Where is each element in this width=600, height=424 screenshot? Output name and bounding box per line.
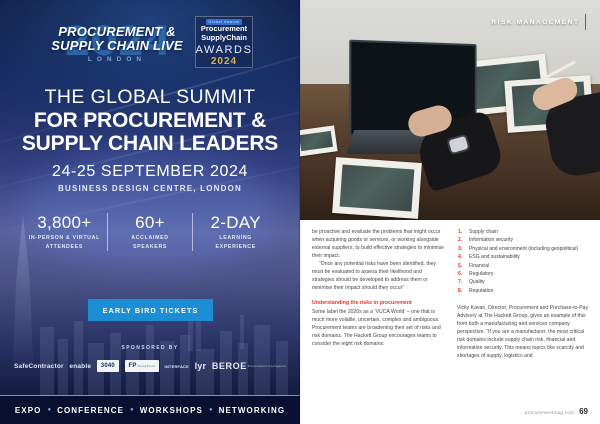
stat-label-line-1: ACCLAIMED [112, 235, 189, 242]
list-item: Quality [457, 278, 590, 286]
list-item: ESG and sustainability [457, 253, 590, 261]
footer-website-url: procurementmag.com [525, 410, 574, 415]
list-item: Physical and environment (including geop… [457, 245, 590, 253]
headline-line-1: THE GLOBAL SUMMIT [0, 86, 300, 109]
list-item: Regulatory [457, 270, 590, 278]
sponsor-logo-enable[interactable]: enable [69, 363, 91, 370]
article-columns: be proactive and evaluate the problems t… [312, 228, 590, 360]
awards-year: 2024 [211, 56, 237, 67]
sponsor-logo-beroe[interactable]: BEROE Procurement Intelligence [212, 361, 286, 371]
article-photo: RISK MANAGEMENT [300, 0, 600, 220]
logo-line-2: SUPPLY CHAIN LIVE [47, 39, 187, 53]
early-bird-tickets-button[interactable]: EARLY BIRD TICKETS [88, 299, 213, 321]
magazine-spread: 2024 PROCUREMENT & SUPPLY CHAIN LIVE LON… [0, 0, 600, 424]
body-paragraph-2: Some label the 2020s as a ‘VUCA World’ –… [312, 308, 445, 348]
kicker-accent-bar [585, 14, 587, 30]
awards-badge: Global Awards Procurement SupplyChain AW… [195, 16, 253, 68]
bullet-separator-icon: ● [130, 407, 134, 413]
logo-line-1: PROCUREMENT & [47, 25, 187, 39]
sponsor-mark: FP [129, 363, 137, 369]
risk-domains-list: Supply chain Information security Physic… [457, 228, 590, 295]
event-venue: BUSINESS DESIGN CENTRE, LONDON [0, 184, 300, 193]
page-number: 69 [579, 407, 588, 416]
logo-location: LONDON [47, 56, 187, 63]
page-gutter-shadow [299, 0, 301, 424]
stat-number: 2-DAY [197, 213, 274, 233]
sponsored-by-label: SPONSORED BY [0, 345, 300, 351]
sponsor-logo-focal-point[interactable]: FP Focal Point [125, 360, 159, 372]
headline-line-2: FOR PROCUREMENT & [0, 109, 300, 132]
headline-line-3: SUPPLY CHAIN LEADERS [0, 132, 300, 155]
awards-title: AWARDS [195, 44, 252, 56]
right-page-article: RISK MANAGEMENT be proactive and evaluat… [300, 0, 600, 424]
stat-label-line-2: SPEAKERS [112, 244, 189, 251]
event-format-bar: EXPO ● CONFERENCE ● WORKSHOPS ● NETWORKI… [0, 395, 300, 424]
body-pullquote-paragraph: “Once any potential risks have been iden… [312, 260, 445, 292]
list-item: Financial [457, 262, 590, 270]
sponsor-logo-lyr[interactable]: lyr [195, 361, 207, 371]
stat-speakers: 60+ ACCLAIMED SPEAKERS [108, 213, 193, 251]
article-column-left: be proactive and evaluate the problems t… [312, 228, 445, 360]
stat-label-line-1: IN-PERSON & VIRTUAL [26, 235, 103, 242]
event-date: 24-25 SEPTEMBER 2024 [0, 162, 300, 182]
list-item: Information security [457, 236, 590, 244]
sponsor-subtext: Procurement Intelligence [248, 364, 286, 368]
stat-label-line-1: LEARNING [197, 235, 274, 242]
section-kicker: RISK MANAGEMENT [491, 14, 586, 30]
list-item: Supply chain [457, 228, 590, 236]
list-item: Reputation [457, 287, 590, 295]
body-paragraph-1: be proactive and evaluate the problems t… [312, 228, 445, 260]
format-workshops: WORKSHOPS [140, 406, 203, 415]
left-page-advertisement: 2024 PROCUREMENT & SUPPLY CHAIN LIVE LON… [0, 0, 300, 424]
page-footer: procurementmag.com 69 [525, 407, 588, 416]
sponsor-logo-row: SafeContractor enable 3040 FP Focal Poin… [14, 360, 286, 372]
article-subheading: Understanding the risks in procurement [312, 299, 445, 307]
procurement-supply-chain-live-logo: 2024 PROCUREMENT & SUPPLY CHAIN LIVE LON… [47, 14, 187, 70]
stat-duration: 2-DAY LEARNING EXPERIENCE [193, 213, 278, 251]
stat-number: 60+ [112, 213, 189, 233]
photo-printout-3 [332, 157, 422, 219]
sponsor-logo-safecontractor[interactable]: SafeContractor [14, 363, 64, 370]
sponsor-logo-3040[interactable]: 3040 [97, 360, 119, 372]
stat-attendees: 3,800+ IN-PERSON & VIRTUAL ATTENDEES [22, 213, 107, 251]
format-conference: CONFERENCE [57, 406, 124, 415]
stat-number: 3,800+ [26, 213, 103, 233]
format-expo: EXPO [15, 406, 42, 415]
event-date-block: 24-25 SEPTEMBER 2024 BUSINESS DESIGN CEN… [0, 162, 300, 193]
sponsor-logo-interface[interactable]: INTERFACE [165, 364, 189, 369]
event-stats: 3,800+ IN-PERSON & VIRTUAL ATTENDEES 60+… [22, 213, 278, 251]
awards-brand-line-2: SupplyChain [201, 34, 247, 43]
sponsor-subtext: Focal Point [138, 364, 155, 368]
cta-label: EARLY BIRD TICKETS [103, 306, 199, 315]
sponsor-mark: BEROE [212, 361, 247, 371]
body-paragraph-3: Vicky Kavan, Director, Procurement and P… [457, 304, 590, 360]
event-branding-row: 2024 PROCUREMENT & SUPPLY CHAIN LIVE LON… [0, 14, 300, 70]
bullet-separator-icon: ● [209, 407, 213, 413]
article-column-right: Supply chain Information security Physic… [457, 228, 590, 360]
section-kicker-label: RISK MANAGEMENT [491, 19, 579, 26]
format-networking: NETWORKING [219, 406, 286, 415]
stat-label-line-2: ATTENDEES [26, 244, 103, 251]
bullet-separator-icon: ● [47, 407, 51, 413]
ad-headline: THE GLOBAL SUMMIT FOR PROCUREMENT & SUPP… [0, 86, 300, 155]
stat-label-line-2: EXPERIENCE [197, 244, 274, 251]
